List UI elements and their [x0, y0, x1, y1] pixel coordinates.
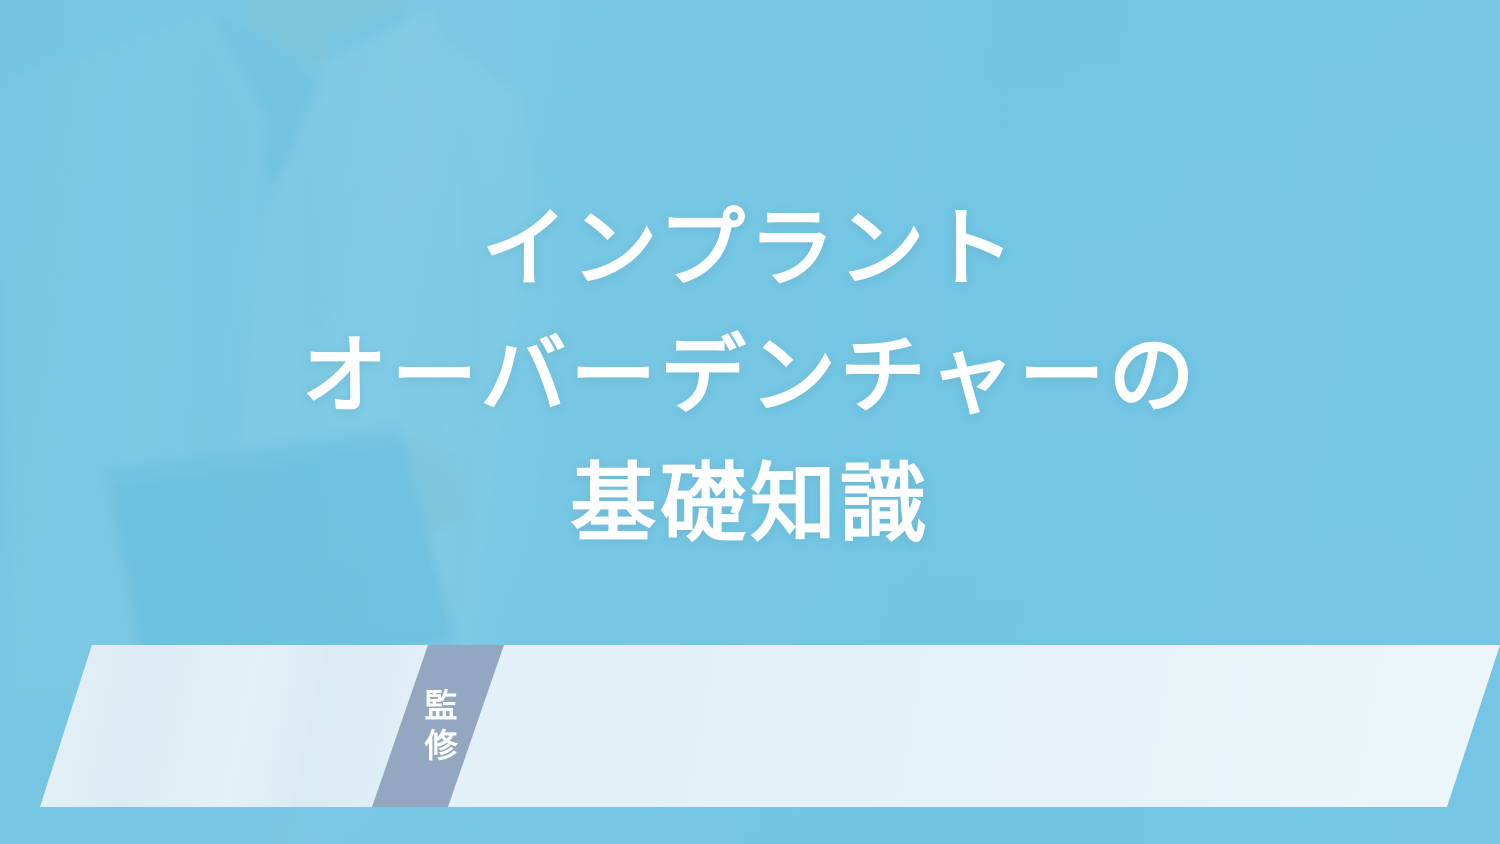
title-line-2: オーバーデンチャーの — [0, 313, 1500, 440]
title-line-1: インプラント — [0, 186, 1500, 313]
title-line-3: 基礎知識 — [0, 441, 1500, 568]
page-title: インプラント オーバーデンチャーの 基礎知識 — [0, 186, 1500, 568]
thumbnail-canvas: インプラント オーバーデンチャーの 基礎知識 監 修 — [0, 0, 1500, 844]
supervisor-banner: 監 修 — [0, 645, 1500, 807]
banner-texture-overlay — [0, 645, 1500, 807]
